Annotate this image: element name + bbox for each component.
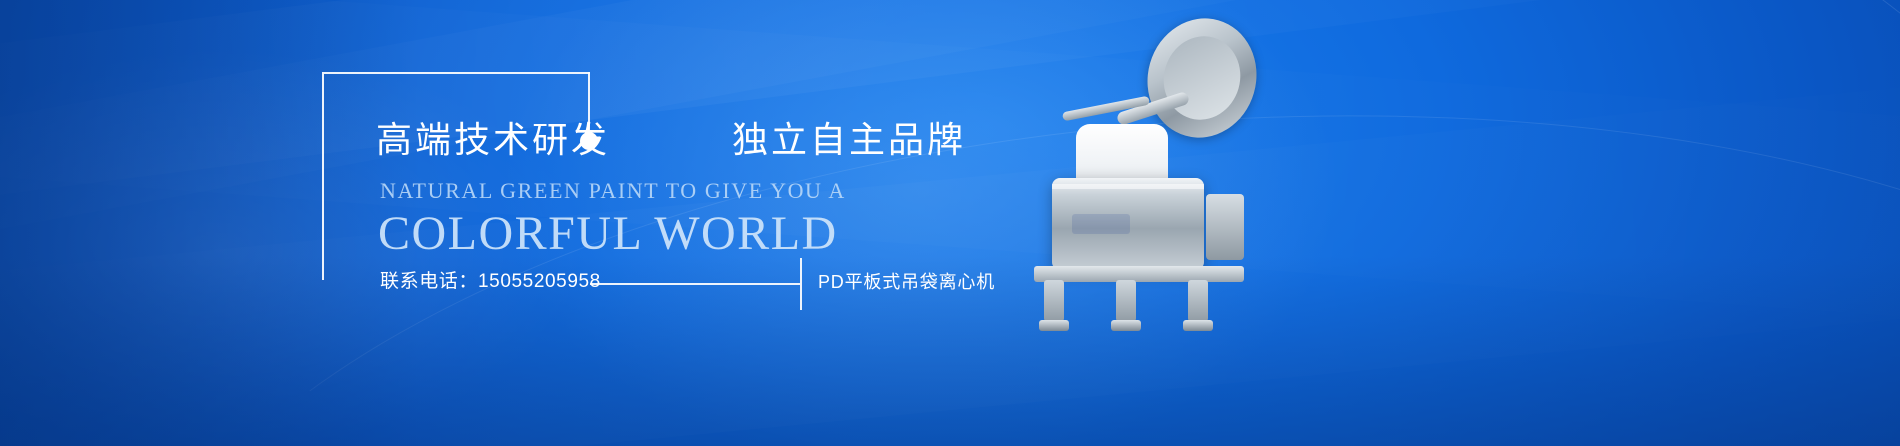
product-caption: PD平板式吊袋离心机: [818, 268, 995, 294]
product-leg: [1044, 280, 1064, 324]
headline-right-text: 独立自主品牌: [732, 119, 966, 160]
background-swoosh-curve: [0, 0, 1900, 446]
banner-bigline: COLORFUL WORLD: [378, 206, 838, 261]
product-leg: [1116, 280, 1136, 324]
promo-banner: 高端技术研发 独立自主品牌 NATURAL GREEN PAINT TO GIV…: [0, 0, 1900, 446]
headline-left-text: 高端技术研发: [376, 119, 610, 160]
product-logo-icon: [1072, 214, 1130, 234]
caption-leader-line: [590, 283, 800, 285]
product-motor: [1206, 194, 1244, 260]
banner-headline: 高端技术研发 独立自主品牌: [376, 122, 966, 158]
product-base: [1034, 266, 1244, 282]
background-decoration: [0, 0, 1900, 446]
headline-frame: 高端技术研发 独立自主品牌 NATURAL GREEN PAINT TO GIV…: [322, 72, 590, 280]
product-leg: [1188, 280, 1208, 324]
background-swoosh-curve: [0, 0, 1900, 446]
product-image-centrifuge: [1020, 18, 1320, 348]
banner-subline: NATURAL GREEN PAINT TO GIVE YOU A: [380, 178, 846, 204]
caption-leader-tick: [800, 258, 802, 310]
contact-phone: 联系电话：15055205958: [380, 266, 601, 293]
